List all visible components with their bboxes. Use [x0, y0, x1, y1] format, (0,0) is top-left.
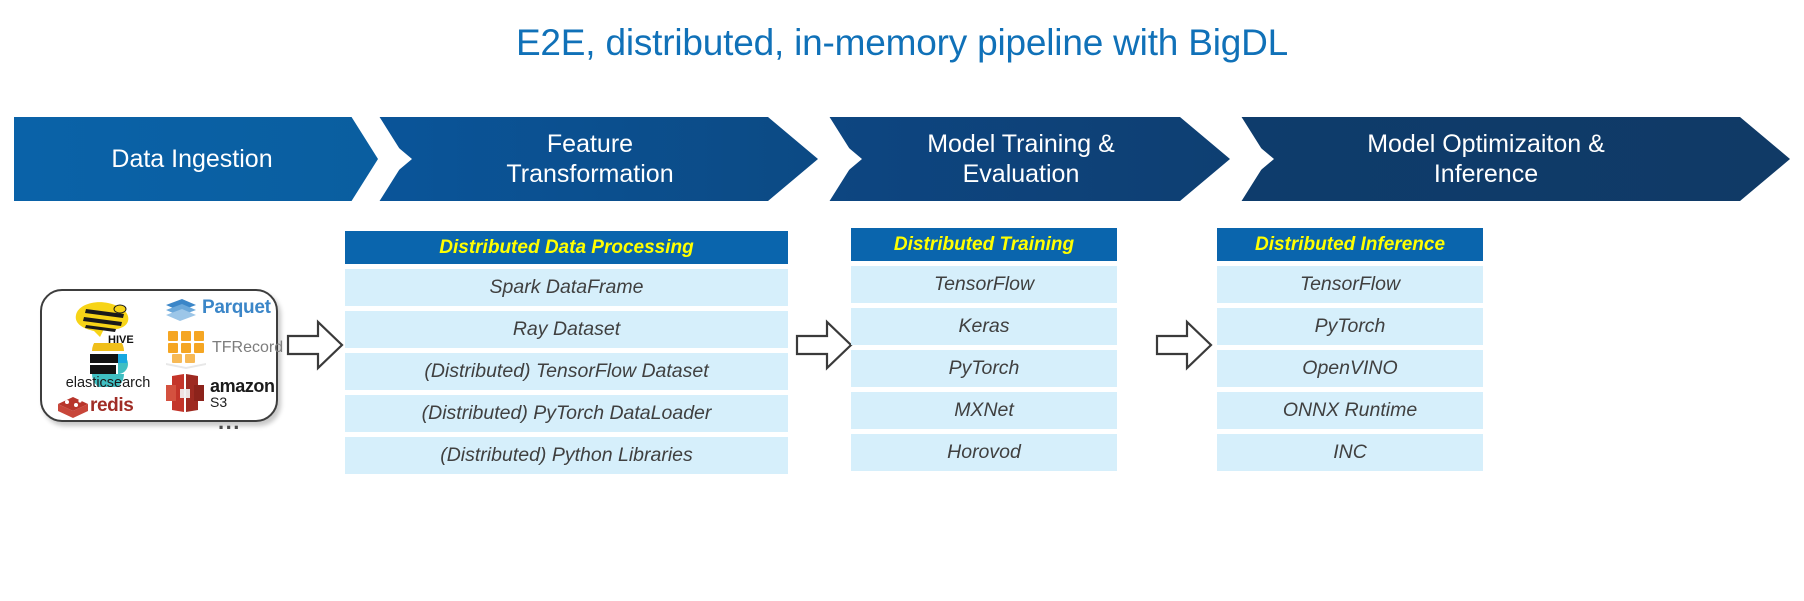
- pipeline-stage-label: Feature Transformation: [506, 129, 673, 190]
- table-row[interactable]: Horovod: [851, 434, 1117, 471]
- pipeline-banner: Data Ingestion Feature Transformation Mo…: [14, 117, 1790, 201]
- table-row[interactable]: Spark DataFrame: [345, 269, 788, 306]
- table-row[interactable]: TensorFlow: [1217, 266, 1483, 303]
- flow-arrow-icon: [286, 316, 344, 374]
- table-header: Distributed Training: [851, 228, 1117, 261]
- table-distributed-training: Distributed Training TensorFlow Keras Py…: [851, 228, 1117, 471]
- table-distributed-inference: Distributed Inference TensorFlow PyTorch…: [1217, 228, 1483, 471]
- pipeline-stage-model-training-evaluation[interactable]: Model Training & Evaluation: [812, 117, 1230, 201]
- table-row[interactable]: MXNet: [851, 392, 1117, 429]
- parquet-label: Parquet: [202, 297, 271, 319]
- elasticsearch-label: elasticsearch: [58, 375, 158, 391]
- table-row[interactable]: (Distributed) Python Libraries: [345, 437, 788, 474]
- parquet-logo-icon: Parquet: [162, 296, 274, 324]
- redis-logo-icon: redis: [56, 392, 160, 422]
- table-row[interactable]: (Distributed) PyTorch DataLoader: [345, 395, 788, 432]
- flow-arrow-icon: [795, 316, 853, 374]
- redis-label: redis: [90, 395, 133, 417]
- elasticsearch-logo-icon: elasticsearch: [58, 347, 158, 391]
- page-title: E2E, distributed, in-memory pipeline wit…: [0, 22, 1804, 64]
- table-row[interactable]: PyTorch: [851, 350, 1117, 387]
- more-sources-label: ...: [218, 409, 241, 435]
- slide-canvas: E2E, distributed, in-memory pipeline wit…: [0, 0, 1804, 601]
- table-row[interactable]: OpenVINO: [1217, 350, 1483, 387]
- pipeline-stage-label: Data Ingestion: [111, 144, 272, 175]
- flow-arrow-icon: [1155, 316, 1213, 374]
- table-distributed-data-processing: Distributed Data Processing Spark DataFr…: [345, 231, 788, 474]
- tfrecord-logo-icon: TFRecord: [164, 327, 276, 371]
- pipeline-stage-feature-transformation[interactable]: Feature Transformation: [362, 117, 818, 201]
- table-row[interactable]: PyTorch: [1217, 308, 1483, 345]
- s3-label: S3: [210, 394, 227, 410]
- pipeline-stage-data-ingestion[interactable]: Data Ingestion: [14, 117, 404, 201]
- table-row[interactable]: Keras: [851, 308, 1117, 345]
- table-header: Distributed Data Processing: [345, 231, 788, 264]
- data-sources-card: HIVE elasticsearch red: [40, 289, 278, 422]
- table-header: Distributed Inference: [1217, 228, 1483, 261]
- tfrecord-label: TFRecord: [212, 339, 283, 357]
- hive-logo-icon: HIVE: [64, 297, 150, 345]
- table-row[interactable]: Ray Dataset: [345, 311, 788, 348]
- pipeline-stage-model-optimization-inference[interactable]: Model Optimizaiton & Inference: [1224, 117, 1790, 201]
- table-row[interactable]: (Distributed) TensorFlow Dataset: [345, 353, 788, 390]
- table-row[interactable]: ONNX Runtime: [1217, 392, 1483, 429]
- table-row[interactable]: TensorFlow: [851, 266, 1117, 303]
- pipeline-stage-label: Model Training & Evaluation: [927, 129, 1115, 190]
- pipeline-stage-label: Model Optimizaiton & Inference: [1367, 129, 1605, 190]
- table-row[interactable]: INC: [1217, 434, 1483, 471]
